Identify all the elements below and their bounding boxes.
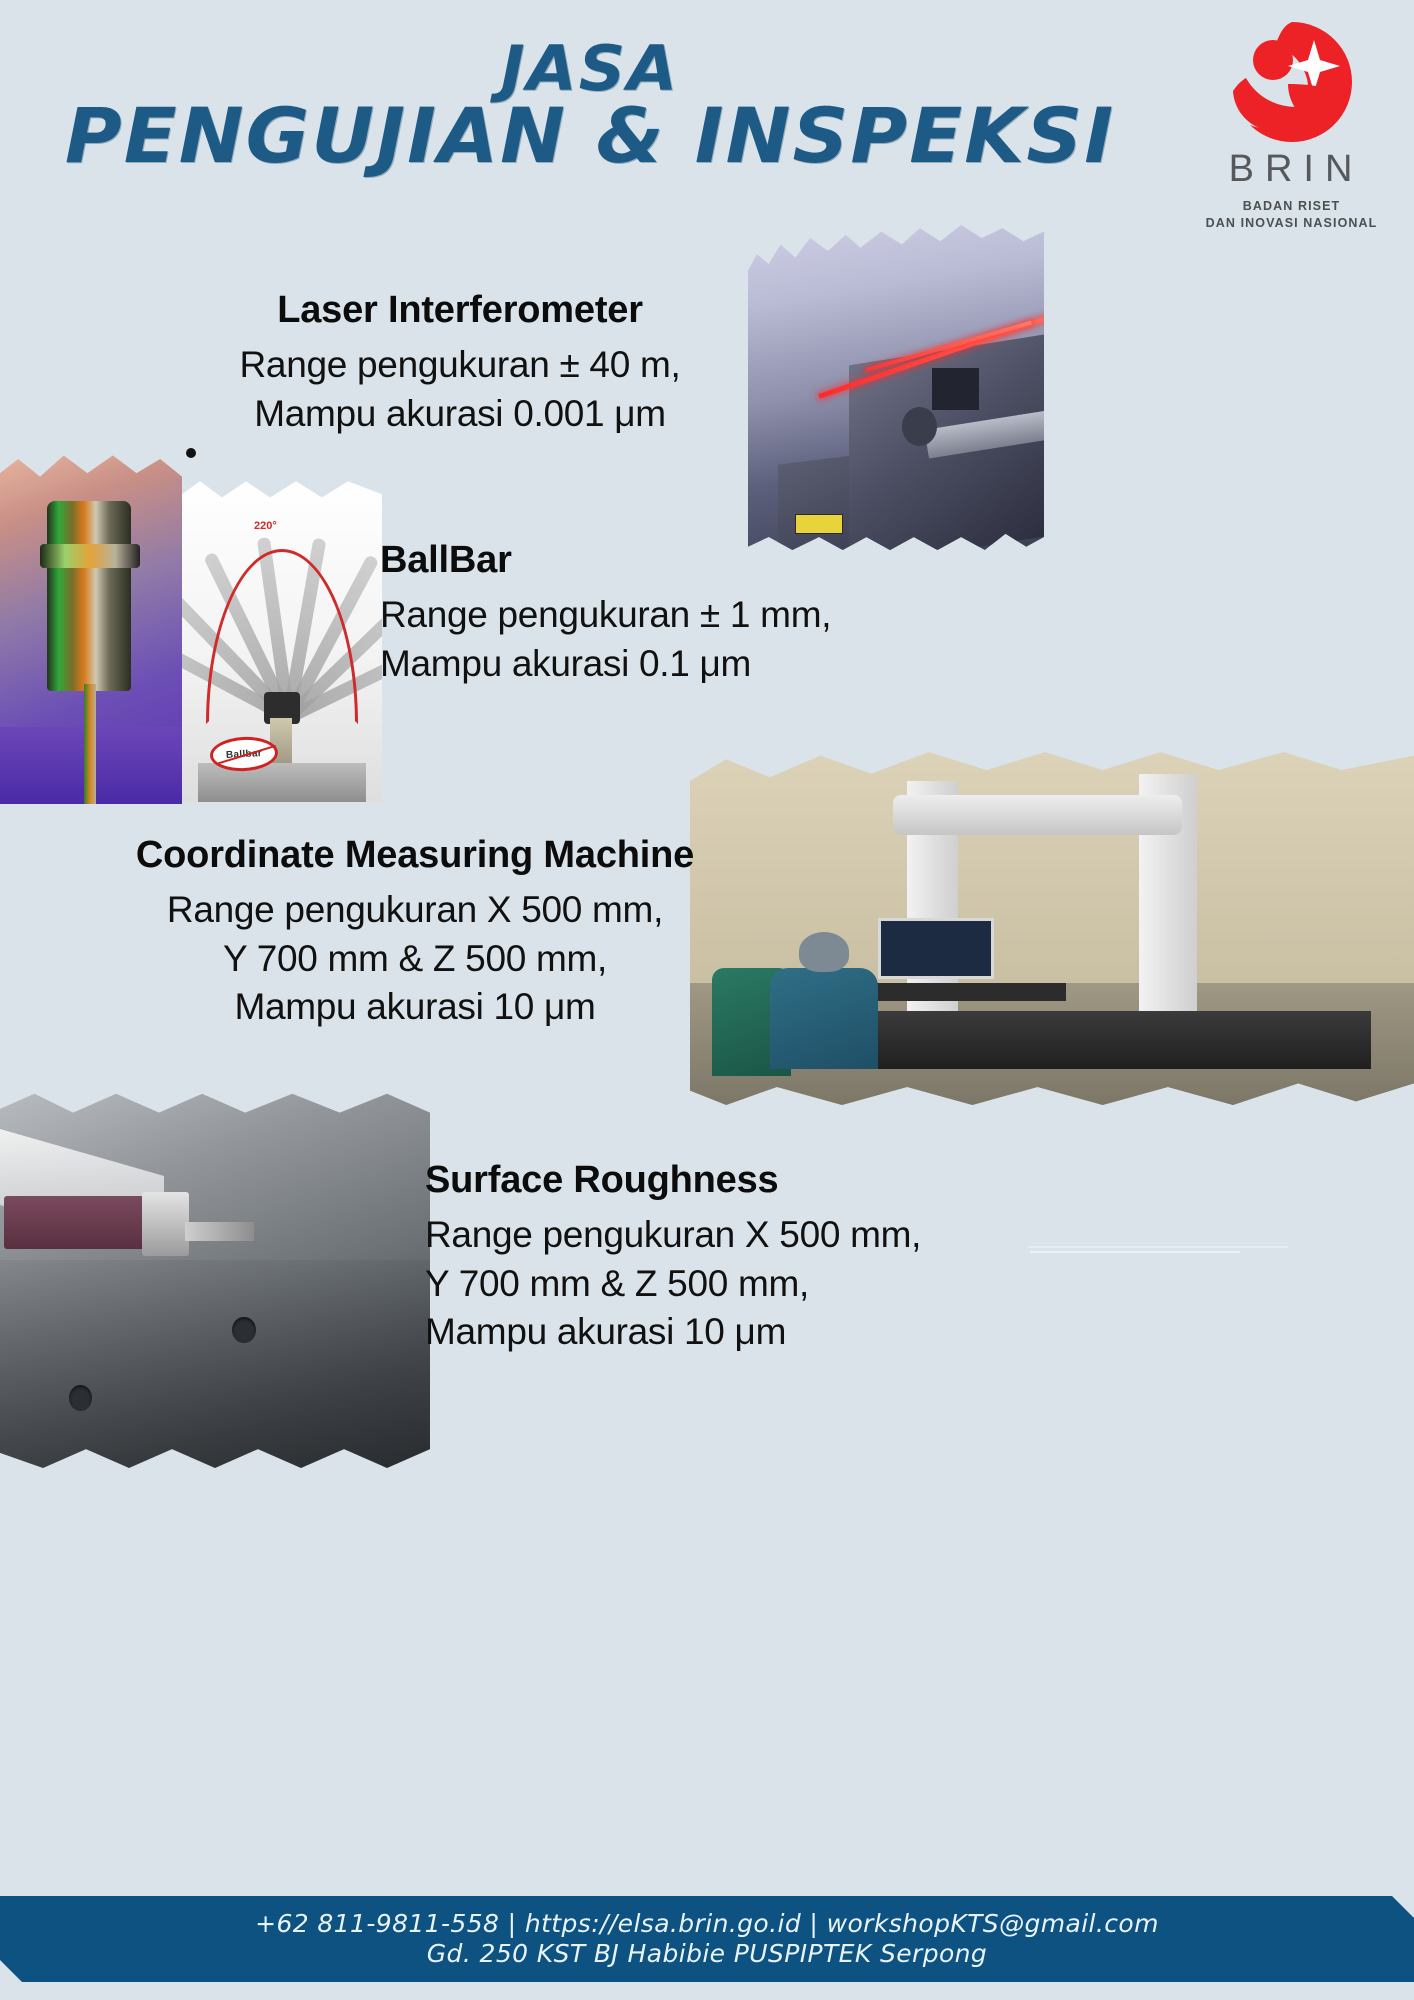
service-line: Range pengukuran X 500 mm, — [95, 886, 735, 935]
surface-hole — [232, 1317, 256, 1343]
ballbar-photo: 220° Ballbar — [182, 478, 382, 802]
cmm-operator-body — [770, 968, 879, 1069]
service-line: Mampu akurasi 0.001 μm — [150, 390, 770, 439]
ballbar-angle-label: 220° — [254, 520, 277, 532]
service-line: Range pengukuran X 500 mm, — [425, 1211, 1065, 1260]
decorative-hairline — [1030, 1251, 1240, 1253]
cmm-photo — [690, 745, 1414, 1105]
service-block-surface-roughness: Surface Roughness Range pengukuran X 500… — [425, 1160, 1065, 1357]
poster-header: JASA PENGUJIAN & INSPEKSI BRIN BADAN RIS… — [0, 0, 1414, 215]
service-title: Coordinate Measuring Machine — [95, 835, 735, 877]
footer-contact-line[interactable]: +62 811-9811-558 | https://elsa.brin.go.… — [255, 1909, 1159, 1940]
laser-optic-block — [932, 368, 979, 410]
spindle-photo — [0, 452, 182, 804]
cmm-granite-table — [849, 1011, 1370, 1069]
cmm-operator-head — [799, 932, 850, 972]
service-block-coordinate-measuring-machine: Coordinate Measuring Machine Range pengu… — [95, 835, 735, 1032]
service-line: Y 700 mm & Z 500 mm, — [425, 1260, 1065, 1309]
brin-logo: BRIN BADAN RISET DAN INOVASI NASIONAL — [1199, 18, 1384, 231]
service-line: Range pengukuran ± 40 m, — [150, 341, 770, 390]
service-title: Laser Interferometer — [150, 290, 770, 332]
surface-shading — [0, 1260, 430, 1468]
service-title: BallBar — [380, 540, 940, 582]
surface-probe-head — [142, 1192, 189, 1256]
service-title: Surface Roughness — [425, 1160, 1065, 1202]
surface-roughness-photo — [0, 1090, 430, 1468]
brin-tagline: BADAN RISET DAN INOVASI NASIONAL — [1199, 198, 1384, 231]
service-line: Mampu akurasi 10 μm — [95, 983, 735, 1032]
brin-logo-icon — [1228, 18, 1356, 146]
brin-tagline-line-1: BADAN RISET — [1199, 198, 1384, 215]
service-block-ballbar: BallBar Range pengukuran ± 1 mm, Mampu a… — [380, 540, 940, 688]
surface-probe-body — [4, 1196, 150, 1249]
poster-footer: +62 811-9811-558 | https://elsa.brin.go.… — [0, 1896, 1414, 1982]
service-line: Mampu akurasi 10 μm — [425, 1308, 1065, 1357]
title-line-1: JASA — [0, 40, 1204, 97]
spindle-shaft-shape — [84, 684, 97, 804]
cmm-desk-shape — [849, 983, 1066, 1001]
cmm-monitor-shape — [878, 918, 994, 979]
service-block-laser-interferometer: Laser Interferometer Range pengukuran ± … — [150, 290, 770, 438]
page-title: JASA PENGUJIAN & INSPEKSI — [0, 40, 1180, 171]
service-line: Mampu akurasi 0.1 μm — [380, 640, 940, 689]
spindle-ring-shape — [40, 544, 140, 569]
footer-address-line: Gd. 250 KST BJ Habibie PUSPIPTEK Serpong — [427, 1939, 987, 1970]
ballbar-base-shape — [198, 763, 366, 802]
service-line: Range pengukuran ± 1 mm, — [380, 591, 940, 640]
poster-canvas: JASA PENGUJIAN & INSPEKSI BRIN BADAN RIS… — [0, 0, 1414, 2000]
laser-warning-label — [795, 514, 842, 534]
spindle-body-shape — [47, 501, 131, 691]
service-line: Y 700 mm & Z 500 mm, — [95, 935, 735, 984]
title-line-2: PENGUJIAN & INSPEKSI — [0, 101, 1192, 171]
brin-wordmark: BRIN — [1199, 148, 1384, 191]
laser-interferometer-photo — [748, 225, 1044, 550]
surface-probe-stylus — [185, 1222, 254, 1241]
decorative-hairline — [1028, 1246, 1288, 1248]
bullet-dot-icon — [186, 448, 196, 458]
cmm-bridge-arm — [893, 795, 1183, 835]
brin-tagline-line-2: DAN INOVASI NASIONAL — [1199, 215, 1384, 232]
